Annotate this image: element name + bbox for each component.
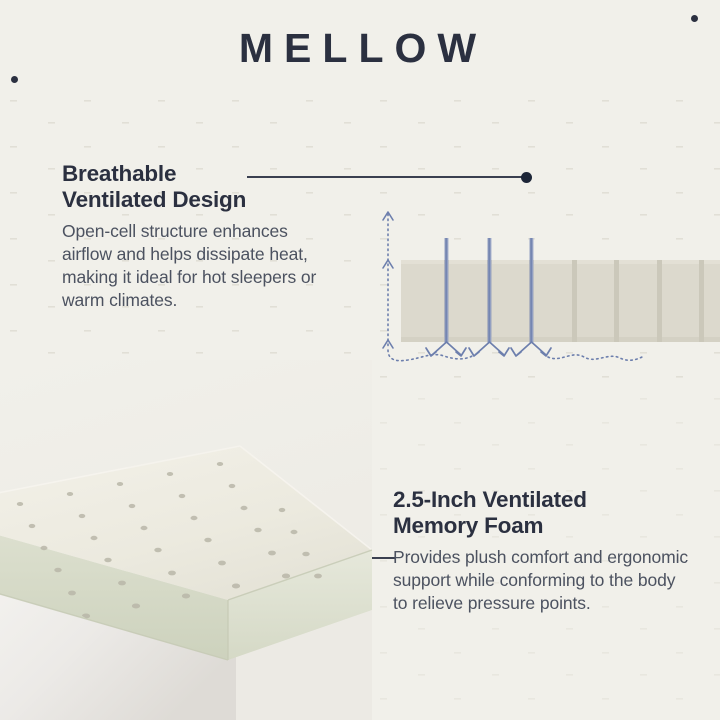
product-photo-memory-foam-topper bbox=[0, 360, 372, 720]
feature-heading-line1: Breathable bbox=[62, 161, 176, 186]
feature-body-text: Open-cell structure enhances airflow and… bbox=[62, 220, 340, 313]
logo-dot-above-w-icon bbox=[691, 15, 698, 22]
feature-heading-line1: 2.5-Inch Ventilated bbox=[393, 487, 587, 512]
thickness-axis bbox=[383, 212, 393, 348]
foam-cross-section-diagram bbox=[370, 200, 720, 370]
feature-ventilated-memory-foam: 2.5-Inch Ventilated Memory Foam Provides… bbox=[393, 487, 693, 615]
feature-heading: 2.5-Inch Ventilated Memory Foam bbox=[393, 487, 693, 540]
feature-heading: Breathable Ventilated Design bbox=[62, 161, 340, 214]
feature-heading-line2: Memory Foam bbox=[393, 513, 543, 538]
infographic-canvas: MELLOW Breathable Ventilated Design Open… bbox=[0, 0, 720, 720]
brand-logo: MELLOW bbox=[0, 28, 720, 88]
connector-node-dot-icon bbox=[521, 172, 532, 183]
logo-dot-below-m-icon bbox=[11, 76, 18, 83]
feature-body-text: Provides plush comfort and ergonomic sup… bbox=[393, 546, 693, 616]
brand-name: MELLOW bbox=[233, 28, 487, 69]
feature-breathable-ventilated-design: Breathable Ventilated Design Open-cell s… bbox=[62, 161, 340, 313]
airflow-flow-line bbox=[548, 355, 642, 360]
feature-heading-line2: Ventilated Design bbox=[62, 187, 246, 212]
